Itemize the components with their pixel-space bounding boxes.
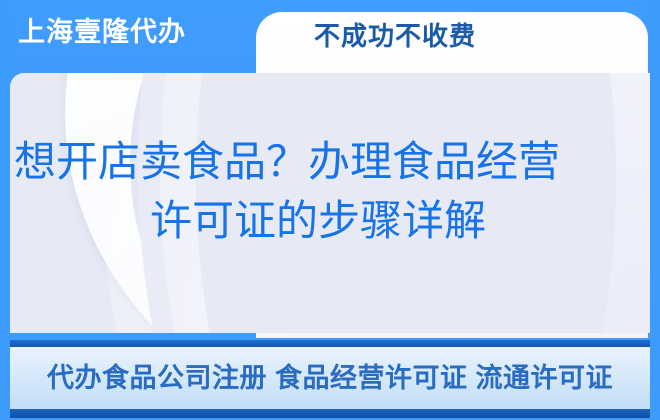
headline-line-1: 想开店卖食品？办理食品经营 (0, 132, 660, 191)
headline-block: 想开店卖食品？办理食品经营 许可证的步骤详解 (0, 132, 660, 250)
keyword-banner: 代办食品公司注册 食品经营许可证 流通许可证 (0, 338, 660, 420)
frame-edge-left (0, 0, 10, 420)
keyword-banner-top-rule (10, 340, 650, 347)
headline-line-2: 许可证的步骤详解 (0, 191, 660, 250)
keyword-banner-inner: 代办食品公司注册 食品经营许可证 流通许可证 (10, 347, 650, 409)
promo-poster: 上海壹隆代办 不成功不收费 想开店卖食品？办理食品经营 许可证的步骤详解 代办食… (0, 0, 660, 420)
keyword-text: 代办食品公司注册 食品经营许可证 流通许可证 (47, 361, 613, 395)
slogan-text: 不成功不收费 (0, 20, 660, 52)
frame-edge-right (650, 0, 660, 420)
keyword-banner-bottom-rule (10, 409, 650, 418)
